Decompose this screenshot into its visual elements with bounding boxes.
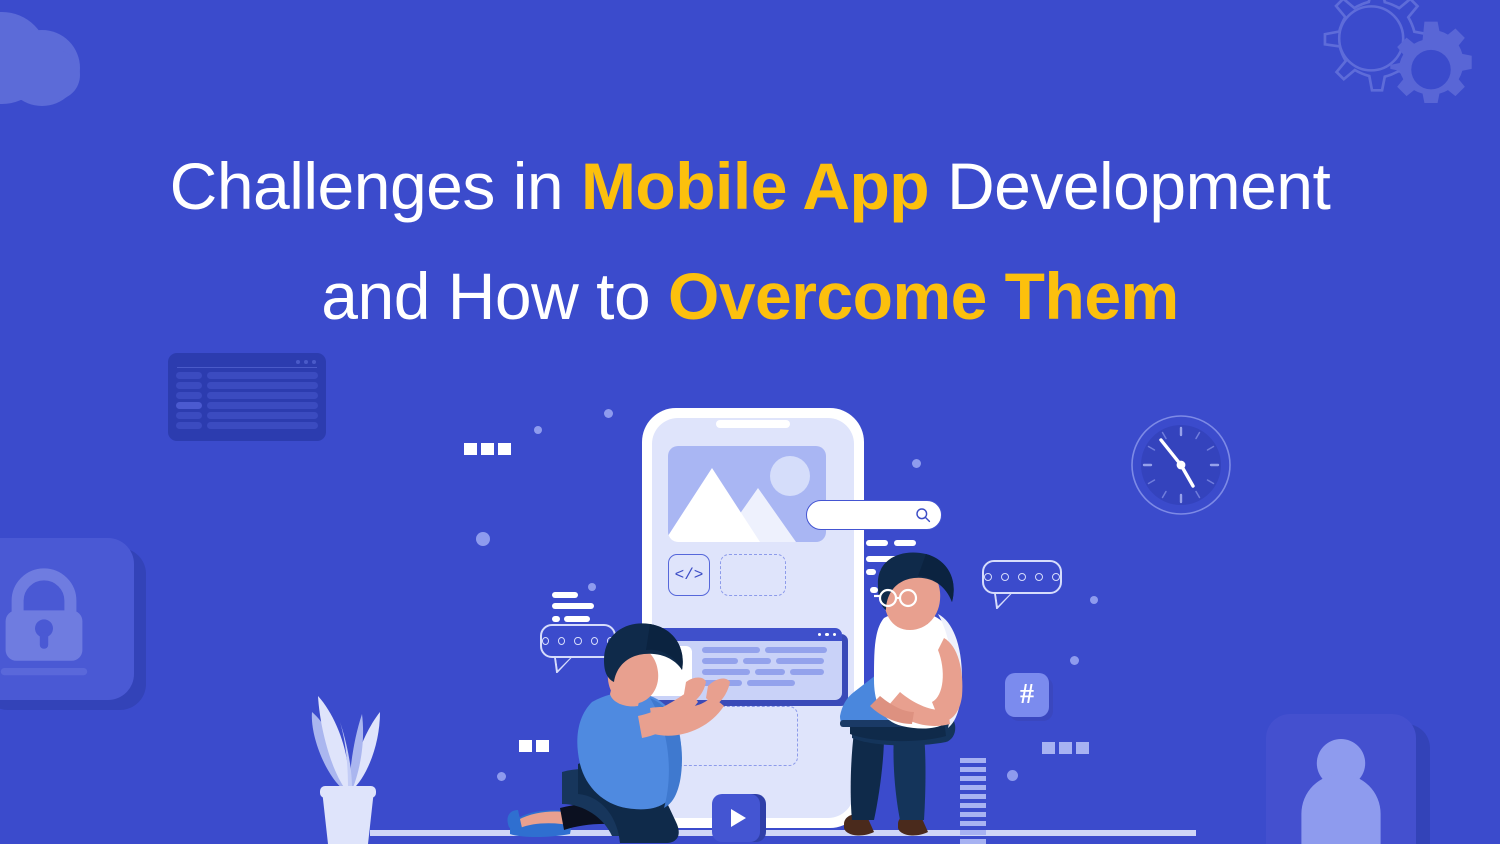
search-input[interactable] — [806, 500, 942, 530]
banner-canvas: # </> — [0, 0, 1500, 844]
cloud-icon — [0, 0, 106, 90]
card-face — [1266, 714, 1416, 844]
dot — [1090, 596, 1098, 604]
floor-line — [370, 830, 1196, 836]
dot — [1070, 656, 1079, 665]
table-row — [176, 372, 318, 379]
card-face — [0, 538, 134, 700]
play-icon — [731, 809, 746, 827]
plant-icon — [296, 690, 398, 844]
clock-icon — [1130, 414, 1232, 516]
lock-card — [0, 538, 146, 710]
square-dot — [498, 443, 511, 455]
table-row — [176, 392, 318, 399]
dot — [604, 409, 613, 418]
headline-line-1: Challenges in Mobile App Development — [0, 131, 1500, 241]
dot — [912, 459, 921, 468]
image-placeholder — [668, 446, 826, 542]
headline-seg: Development — [929, 149, 1330, 223]
headline-seg: and How to — [321, 259, 668, 333]
headline-accent: Mobile App — [581, 149, 929, 223]
table-row — [176, 422, 318, 429]
code-tile: </> — [668, 554, 710, 596]
table-row — [176, 382, 318, 389]
user-icon — [1286, 736, 1396, 844]
square-dot — [464, 443, 477, 455]
page-title: Challenges in Mobile App Development and… — [0, 131, 1500, 351]
square-dot — [1042, 742, 1055, 754]
dot — [534, 426, 542, 434]
square-dot — [1076, 742, 1089, 754]
dot — [588, 583, 596, 591]
table-row — [176, 412, 318, 419]
dot — [476, 532, 490, 546]
character-right — [840, 552, 1020, 844]
search-icon — [915, 507, 931, 523]
user-card — [1266, 714, 1434, 844]
phone-speaker — [716, 420, 790, 428]
data-list-window — [168, 353, 326, 441]
placeholder-block — [720, 554, 786, 596]
headline-line-2: and How to Overcome Them — [0, 241, 1500, 351]
square-dot — [481, 443, 494, 455]
lock-icon — [0, 560, 104, 680]
table-row — [176, 402, 318, 409]
square-dot — [1059, 742, 1072, 754]
gear-icon — [1384, 16, 1478, 115]
mountain-shape — [668, 468, 760, 542]
window-dots — [176, 358, 318, 367]
headline-seg: Challenges in — [170, 149, 581, 223]
headline-accent: Overcome Them — [668, 259, 1179, 333]
divider — [177, 367, 317, 368]
character-left — [500, 612, 730, 844]
